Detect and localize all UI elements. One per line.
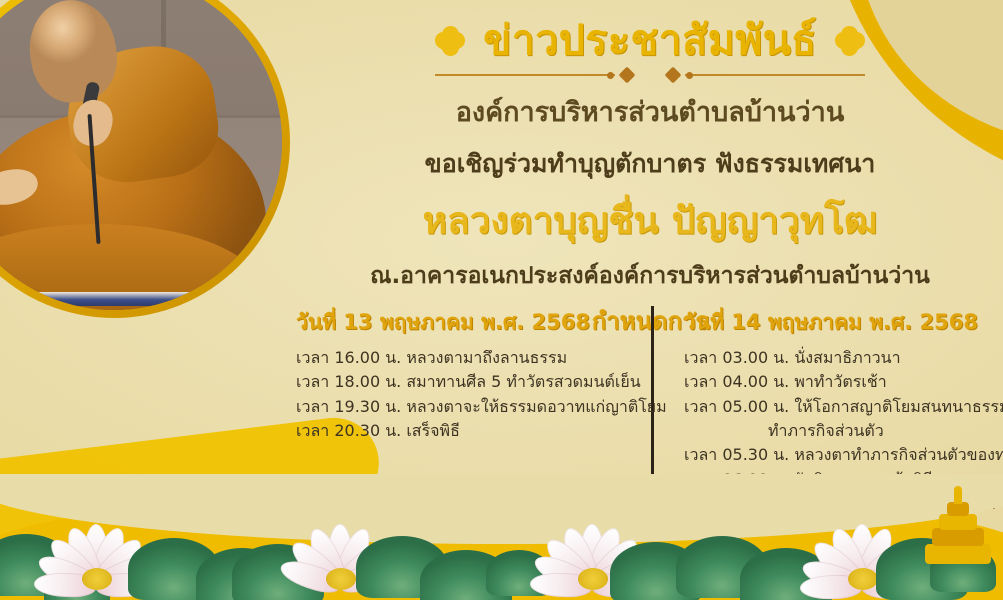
header-block: ข่าวประชาสัมพันธ์ องค์การบริหารส่วนตำบลบ… [310, 18, 990, 340]
schedule-item: เวลา 16.00 น. หลวงตามาถึงลานธรรม [296, 346, 648, 370]
schedule-item: เวลา 18.00 น. สมาทานศีล 5 ทำวัตรสวดมนต์เ… [296, 370, 648, 394]
monk-name: หลวงตาบุญชื่น ปัญญาวุทโฒ [310, 191, 990, 250]
portrait-photo [0, 0, 282, 310]
quatrefoil-ornament-left-icon [435, 26, 465, 56]
schedule-item: เวลา 04.00 น. พาทำวัตรเช้า [684, 370, 1003, 394]
poster-canvas: ข่าวประชาสัมพันธ์ องค์การบริหารส่วนตำบลบ… [0, 0, 1003, 600]
schedule-item: เวลา 05.30 น. หลวงตาทำภารกิจส่วนตัวของท่… [684, 443, 1003, 467]
schedule-item: เวลา 05.00 น. ให้โอกาสญาติโยมสนทนาธรรมแล… [684, 395, 1003, 419]
lotus-band [0, 480, 1003, 600]
title-row: ข่าวประชาสัมพันธ์ [310, 18, 990, 63]
monk-portrait [0, 0, 296, 392]
schedule-item: เวลา 19.30 น. หลวงตาจะให้ธรรมดอวาทแก่ญาต… [296, 395, 648, 419]
thai-pagoda-ornament-icon [923, 486, 993, 564]
schedule-item: เวลา 20.30 น. เสร็จพิธี [296, 419, 648, 443]
ornamental-divider-icon [435, 68, 865, 82]
day2-title: วันที่ 14 พฤษภาคม พ.ศ. 2568 [684, 306, 1003, 339]
schedule-item-continuation: ทำภารกิจส่วนตัว [684, 419, 1003, 443]
schedule-item: เวลา 03.00 น. นั่งสมาธิภาวนา [684, 346, 1003, 370]
page-title: ข่าวประชาสัมพันธ์ [483, 18, 817, 63]
quatrefoil-ornament-right-icon [835, 26, 865, 56]
venue-line: ณ.อาคารอเนกประสงค์องค์การบริหารส่วนตำบลบ… [310, 258, 990, 294]
organization-name: องค์การบริหารส่วนตำบลบ้านว่าน [310, 90, 990, 133]
day1-title: วันที่ 13 พฤษภาคม พ.ศ. 2568 [296, 306, 648, 339]
invitation-line: ขอเชิญร่วมทำบุญตักบาตร ฟังธรรมเทศนา [310, 144, 990, 184]
seating-mat [0, 292, 220, 306]
